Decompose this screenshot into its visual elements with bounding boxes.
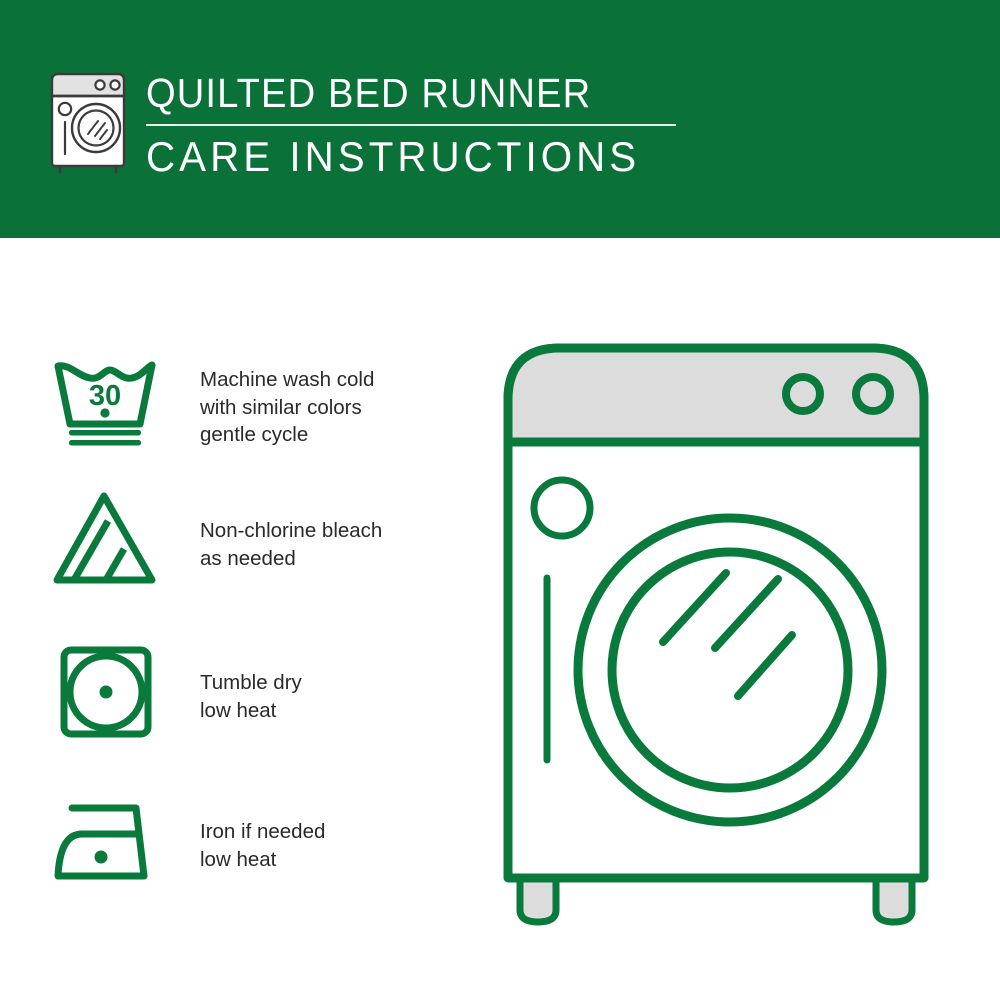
front-load-washing-machine-illustration [490, 330, 970, 940]
page-title: QUILTED BED RUNNER [146, 70, 723, 116]
care-label-line: with similar colors [200, 394, 460, 422]
title-divider [146, 124, 676, 126]
care-label-line: Machine wash cold [200, 366, 460, 394]
care-label-bleach: Non-chlorine bleach as needed [200, 517, 460, 572]
care-label-line: Iron if needed [200, 818, 460, 846]
care-instructions-infographic: QUILTED BED RUNNER CARE INSTRUCTIONS 30 [0, 0, 1000, 1000]
care-label-line: low heat [200, 846, 460, 874]
iron-low-heat-icon [52, 792, 162, 892]
svg-text:30: 30 [89, 380, 121, 412]
care-label-iron: Iron if needed low heat [200, 818, 460, 873]
page-subtitle: CARE INSTRUCTIONS [146, 133, 741, 181]
header-banner: QUILTED BED RUNNER CARE INSTRUCTIONS [0, 0, 1000, 238]
header-title-group: QUILTED BED RUNNER CARE INSTRUCTIONS [146, 70, 766, 181]
care-label-line: as needed [200, 545, 460, 573]
care-label-wash: Machine wash cold with similar colors ge… [200, 366, 460, 449]
machine-wash-tub-icon: 30 [52, 350, 162, 450]
care-label-line: gentle cycle [200, 421, 460, 449]
tumble-dry-low-heat-icon [52, 642, 162, 742]
care-symbol-list: 30 Machine wash cold with similar colors… [0, 238, 470, 1000]
care-label-line: Non-chlorine bleach [200, 517, 460, 545]
non-chlorine-bleach-triangle-icon [52, 488, 162, 588]
care-label-line: Tumble dry [200, 669, 460, 697]
care-label-line: low heat [200, 697, 460, 725]
washing-machine-icon [44, 66, 140, 174]
care-label-tumble-dry: Tumble dry low heat [200, 669, 460, 724]
